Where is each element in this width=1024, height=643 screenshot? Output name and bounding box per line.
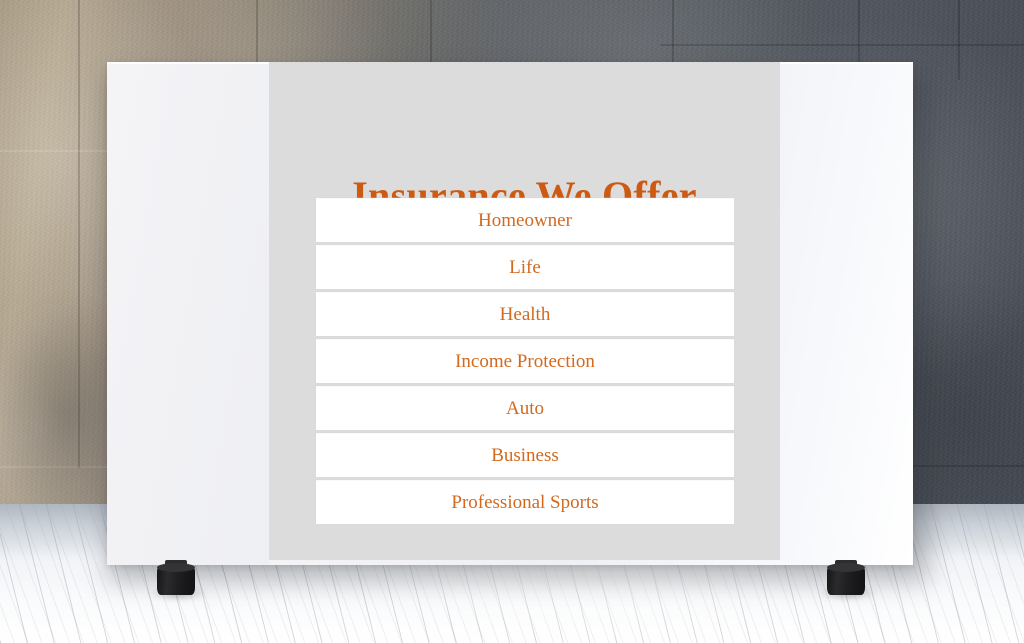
list-item-label: Health [500, 305, 551, 324]
foot-top-rim [157, 563, 195, 572]
wall-seam-vertical [958, 0, 960, 80]
list-item[interactable]: Income Protection [316, 339, 734, 383]
insurance-types-list: Homeowner Life Health Income Protection … [316, 198, 734, 524]
wall-seam-horizontal [660, 44, 1024, 46]
content-panel: Insurance We Offer Homeowner Life Health… [269, 62, 780, 560]
list-item-label: Homeowner [478, 211, 572, 230]
board-left-margin [107, 62, 269, 565]
list-item[interactable]: Auto [316, 386, 734, 430]
list-item[interactable]: Life [316, 245, 734, 289]
list-item[interactable]: Homeowner [316, 198, 734, 242]
foot-top-rim [827, 563, 865, 572]
board-right-margin [780, 62, 913, 565]
list-item[interactable]: Professional Sports [316, 480, 734, 524]
list-item[interactable]: Business [316, 433, 734, 477]
board-foot-right [827, 560, 865, 596]
list-item-label: Business [491, 446, 559, 465]
list-item-label: Auto [506, 399, 544, 418]
wall-cast-shadow [0, 300, 120, 530]
list-item-label: Life [509, 258, 541, 277]
list-item-label: Professional Sports [451, 493, 598, 512]
list-item-label: Income Protection [455, 352, 595, 371]
board-foot-left [157, 560, 195, 596]
list-item[interactable]: Health [316, 292, 734, 336]
presentation-scene: Insurance We Offer Homeowner Life Health… [0, 0, 1024, 643]
wall-seam-horizontal [0, 150, 110, 152]
